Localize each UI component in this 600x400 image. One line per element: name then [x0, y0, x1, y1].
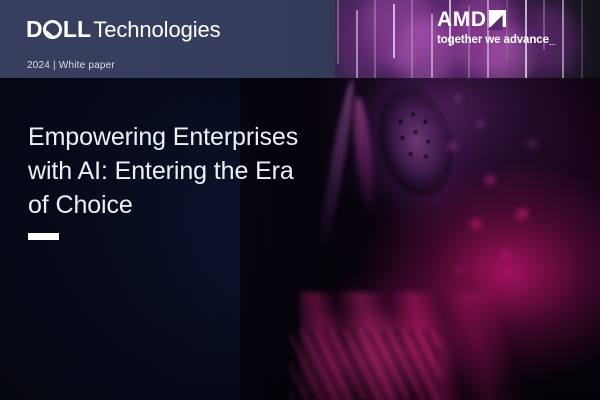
amd-logo: AMD together we advance_	[437, 9, 555, 46]
cover-header-band: DLL Technologies 2024 | White paper AMD …	[0, 0, 600, 78]
header-blob	[343, 26, 383, 78]
page-title-line: of Choice	[28, 188, 318, 222]
header-stripe	[337, 0, 339, 64]
header-stripe	[374, 0, 376, 78]
dell-slashed-e-icon	[43, 20, 62, 39]
amd-tagline: together we advance_	[437, 34, 555, 46]
whitepaper-cover-page: DLL Technologies 2024 | White paper AMD …	[0, 0, 600, 400]
dell-wordmark: DLL	[26, 16, 91, 43]
header-stripe	[393, 4, 395, 58]
dell-technologies-logo: DLL Technologies	[26, 16, 221, 43]
dell-letters-ll: LL	[63, 16, 92, 43]
page-title: Empowering Enterprises with AI: Entering…	[28, 120, 318, 222]
header-stripe	[581, 0, 583, 78]
amd-arrow-icon	[489, 10, 506, 27]
header-stripe	[562, 0, 564, 78]
dell-letter-d: D	[26, 16, 43, 43]
header-stripe	[356, 10, 358, 78]
amd-wordmark: AMD	[437, 9, 487, 30]
header-stripe	[431, 14, 433, 78]
page-title-line: Empowering Enterprises	[28, 120, 318, 154]
header-stripe	[411, 0, 413, 78]
amd-wordmark-row: AMD	[437, 9, 555, 30]
title-accent-rule	[28, 233, 59, 240]
paper-meta-label: 2024 | White paper	[27, 60, 115, 71]
dell-technologies-suffix: Technologies	[93, 17, 220, 43]
page-title-line: with AI: Entering the Era	[28, 154, 318, 188]
